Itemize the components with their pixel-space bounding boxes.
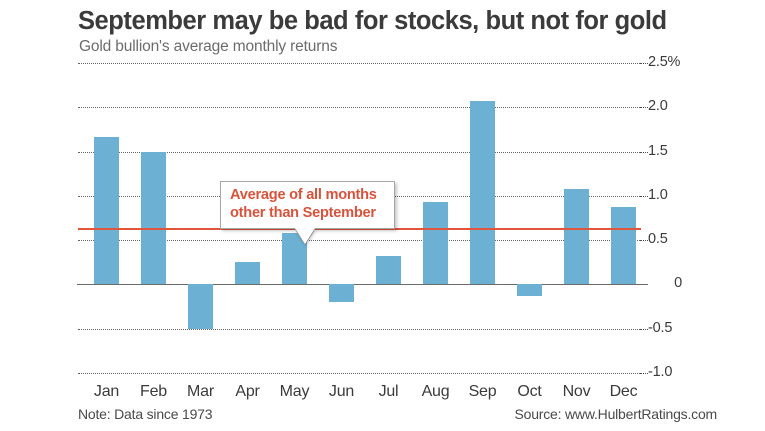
bar-nov bbox=[564, 189, 589, 285]
y-tick-mark bbox=[640, 152, 648, 153]
y-axis-tick-label: 0 bbox=[648, 275, 682, 291]
bar-feb bbox=[141, 152, 166, 285]
bar-oct bbox=[517, 284, 542, 296]
callout-text-line-1: Average of all months bbox=[230, 187, 386, 205]
chart-source: Source: www.HulbertRatings.com bbox=[514, 406, 717, 422]
gridline bbox=[78, 107, 640, 108]
callout-pointer-icon bbox=[295, 228, 315, 244]
zero-axis-line bbox=[77, 284, 643, 285]
y-axis-tick-label: 2.5% bbox=[648, 54, 718, 70]
page-title: September may be bad for stocks, but not… bbox=[78, 6, 718, 36]
bar-dec bbox=[611, 207, 636, 284]
bar-jan bbox=[94, 137, 119, 284]
gridline bbox=[78, 329, 640, 330]
bar-apr bbox=[235, 262, 260, 284]
y-axis-tick-label: 1.5 bbox=[648, 143, 718, 159]
y-tick-mark bbox=[640, 63, 648, 64]
chart-page: September may be bad for stocks, but not… bbox=[0, 0, 765, 431]
y-axis-tick-label: 0.5 bbox=[648, 231, 718, 247]
y-tick-mark bbox=[640, 329, 648, 330]
y-tick-mark bbox=[640, 107, 648, 108]
y-tick-mark bbox=[640, 196, 648, 197]
y-tick-mark bbox=[640, 240, 648, 241]
bar-mar bbox=[188, 284, 213, 328]
x-axis-label-dec: Dec bbox=[594, 383, 654, 401]
bar-jul bbox=[376, 256, 401, 284]
chart-subtitle: Gold bullion's average monthly returns bbox=[79, 37, 337, 56]
bar-sep bbox=[470, 101, 495, 284]
gridline bbox=[78, 373, 640, 374]
chart-note: Note: Data since 1973 bbox=[78, 406, 212, 422]
y-axis-tick-label: -1.0 bbox=[648, 364, 718, 380]
bar-aug bbox=[423, 202, 448, 284]
gridline bbox=[78, 63, 640, 64]
y-axis-tick-label: 1.0 bbox=[648, 187, 718, 203]
y-axis-tick-label: -0.5 bbox=[648, 320, 718, 336]
y-axis-tick-label: 2.0 bbox=[648, 98, 718, 114]
bar-jun bbox=[329, 284, 354, 302]
average-annotation-callout: Average of all months other than Septemb… bbox=[220, 181, 395, 229]
callout-text-line-2: other than September bbox=[230, 205, 386, 223]
y-tick-mark bbox=[640, 373, 648, 374]
y-tick-mark bbox=[640, 284, 648, 285]
